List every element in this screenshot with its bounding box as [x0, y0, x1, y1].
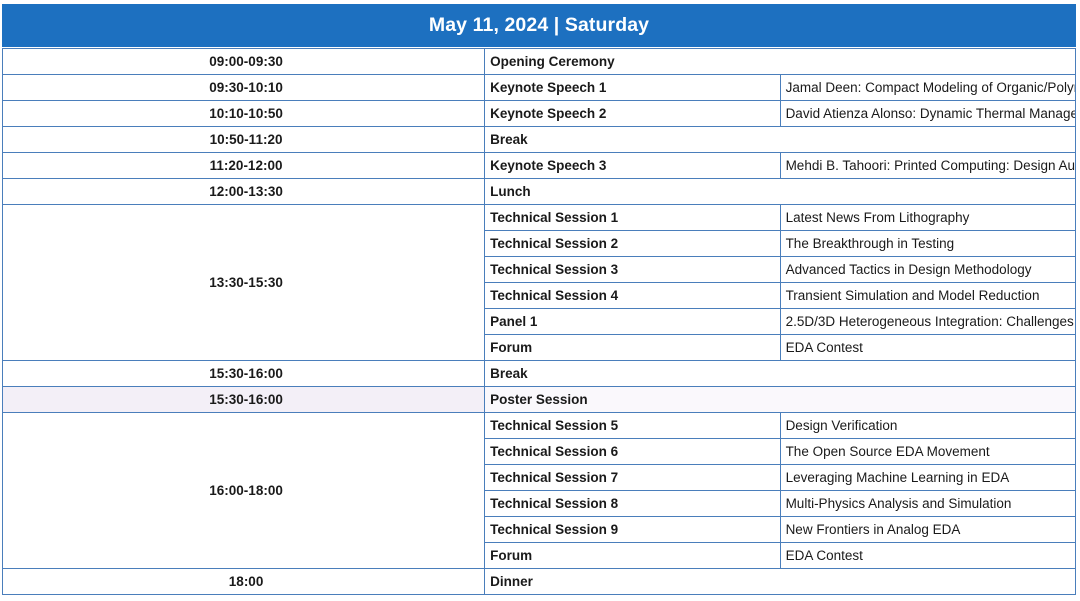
schedule-page: May 11, 2024 | Saturday 09:00-09:30Openi… [0, 0, 1080, 601]
schedule-time-cell: 10:10-10:50 [3, 101, 485, 127]
schedule-session-description: Design Verification [780, 413, 1075, 439]
table-row: 13:30-15:30Technical Session 1Latest New… [3, 205, 1076, 231]
table-row: 18:00Dinner [3, 569, 1076, 595]
schedule-session-description: Multi-Physics Analysis and Simulation [780, 491, 1075, 517]
schedule-session-description: Mehdi B. Tahoori: Printed Computing: Des… [780, 153, 1075, 179]
schedule-session-label: Dinner [485, 569, 1076, 595]
schedule-table-container: 09:00-09:30Opening Ceremony09:30-10:10Ke… [2, 48, 1076, 595]
schedule-session-label: Technical Session 3 [485, 257, 780, 283]
schedule-time-cell: 15:30-16:00 [3, 387, 485, 413]
schedule-time-cell: 11:20-12:00 [3, 153, 485, 179]
schedule-session-description: The Open Source EDA Movement [780, 439, 1075, 465]
schedule-session-label: Technical Session 9 [485, 517, 780, 543]
schedule-session-description: Advanced Tactics in Design Methodology [780, 257, 1075, 283]
schedule-session-label: Technical Session 8 [485, 491, 780, 517]
schedule-session-description: EDA Contest [780, 335, 1075, 361]
table-row: 10:10-10:50Keynote Speech 2David Atienza… [3, 101, 1076, 127]
table-row: 16:00-18:00Technical Session 5Design Ver… [3, 413, 1076, 439]
schedule-time-cell: 09:30-10:10 [3, 75, 485, 101]
schedule-session-label: Forum [485, 543, 780, 569]
schedule-time-cell: 09:00-09:30 [3, 49, 485, 75]
schedule-session-label: Poster Session [485, 387, 1076, 413]
schedule-time-cell: 10:50-11:20 [3, 127, 485, 153]
schedule-time-cell: 15:30-16:00 [3, 361, 485, 387]
schedule-session-label: Technical Session 1 [485, 205, 780, 231]
schedule-time-cell: 18:00 [3, 569, 485, 595]
schedule-session-description: Latest News From Lithography [780, 205, 1075, 231]
schedule-session-label: Keynote Speech 3 [485, 153, 780, 179]
schedule-session-label: Technical Session 4 [485, 283, 780, 309]
schedule-session-description: New Frontiers in Analog EDA [780, 517, 1075, 543]
day-header-title: May 11, 2024 | Saturday [2, 4, 1076, 47]
table-row: 12:00-13:30Lunch [3, 179, 1076, 205]
schedule-session-label: Opening Ceremony [485, 49, 1076, 75]
schedule-table-body: 09:00-09:30Opening Ceremony09:30-10:10Ke… [3, 49, 1076, 595]
table-row: 10:50-11:20Break [3, 127, 1076, 153]
schedule-session-label: Break [485, 127, 1076, 153]
schedule-session-description: 2.5D/3D Heterogeneous Integration: Chall… [780, 309, 1075, 335]
schedule-session-description: Transient Simulation and Model Reduction [780, 283, 1075, 309]
schedule-time-cell: 13:30-15:30 [3, 205, 485, 361]
schedule-session-description: The Breakthrough in Testing [780, 231, 1075, 257]
schedule-session-description: Leveraging Machine Learning in EDA [780, 465, 1075, 491]
schedule-session-description: Jamal Deen: Compact Modeling of Organic/… [780, 75, 1075, 101]
schedule-session-label: Technical Session 6 [485, 439, 780, 465]
schedule-session-label: Panel 1 [485, 309, 780, 335]
schedule-table: 09:00-09:30Opening Ceremony09:30-10:10Ke… [2, 48, 1076, 595]
schedule-session-label: Keynote Speech 2 [485, 101, 780, 127]
schedule-session-description: David Atienza Alonso: Dynamic Thermal Ma… [780, 101, 1075, 127]
schedule-session-label: Break [485, 361, 1076, 387]
table-row: 09:00-09:30Opening Ceremony [3, 49, 1076, 75]
schedule-session-label: Technical Session 5 [485, 413, 780, 439]
schedule-session-label: Lunch [485, 179, 1076, 205]
table-row: 11:20-12:00Keynote Speech 3Mehdi B. Taho… [3, 153, 1076, 179]
schedule-time-cell: 12:00-13:30 [3, 179, 485, 205]
table-row: 09:30-10:10Keynote Speech 1Jamal Deen: C… [3, 75, 1076, 101]
schedule-session-label: Technical Session 7 [485, 465, 780, 491]
schedule-session-label: Keynote Speech 1 [485, 75, 780, 101]
schedule-time-cell: 16:00-18:00 [3, 413, 485, 569]
schedule-session-label: Forum [485, 335, 780, 361]
schedule-session-label: Technical Session 2 [485, 231, 780, 257]
table-row: 15:30-16:00Break [3, 361, 1076, 387]
schedule-session-description: EDA Contest [780, 543, 1075, 569]
table-row: 15:30-16:00Poster Session [3, 387, 1076, 413]
